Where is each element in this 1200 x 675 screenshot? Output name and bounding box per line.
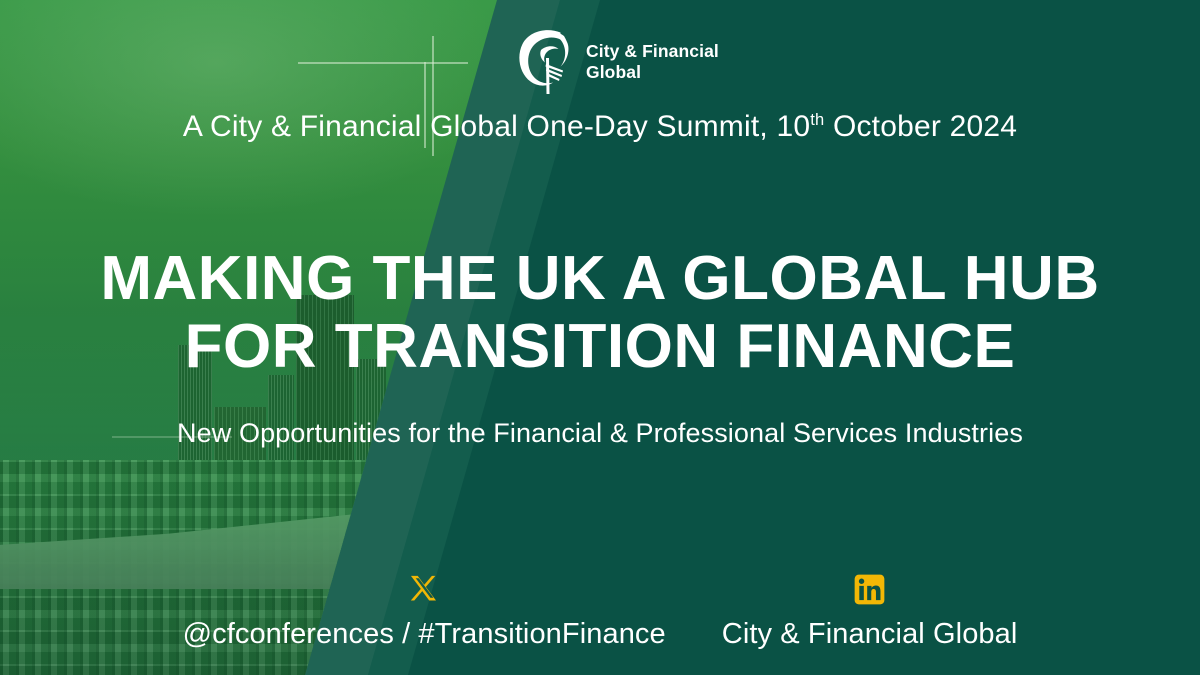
subtitle: New Opportunities for the Financial & Pr…: [0, 418, 1200, 449]
event-date-suffix: October 2024: [824, 110, 1017, 143]
brand-logo-line1: City & Financial: [586, 41, 719, 62]
social-linkedin[interactable]: City & Financial Global: [722, 572, 1018, 651]
headline-line-1: MAKING THE UK A GLOBAL HUB: [100, 244, 1099, 313]
twitter-handle-label[interactable]: @cfconferences / #TransitionFinance: [183, 618, 666, 651]
city-financial-global-logo-icon: [516, 28, 578, 96]
social-twitter[interactable]: @cfconferences / #TransitionFinance: [183, 572, 666, 651]
social-footer: @cfconferences / #TransitionFinance City…: [0, 572, 1200, 651]
headline-line-2: FOR TRANSITION FINANCE: [0, 313, 1200, 381]
brand-logo-line2: Global: [586, 62, 719, 83]
event-date-ordinal: th: [810, 111, 824, 129]
event-date-prefix: A City & Financial Global One-Day Summit…: [183, 110, 810, 143]
event-banner: City & Financial Global A City & Financi…: [0, 0, 1200, 675]
x-twitter-icon[interactable]: [408, 572, 440, 606]
linkedin-page-label[interactable]: City & Financial Global: [722, 618, 1018, 651]
brand-logo-wordmark: City & Financial Global: [586, 41, 719, 82]
page-title: MAKING THE UK A GLOBAL HUB FOR TRANSITIO…: [0, 245, 1200, 381]
linkedin-icon[interactable]: [854, 572, 885, 606]
event-date-line: A City & Financial Global One-Day Summit…: [0, 110, 1200, 144]
brand-logo: City & Financial Global: [516, 28, 719, 96]
